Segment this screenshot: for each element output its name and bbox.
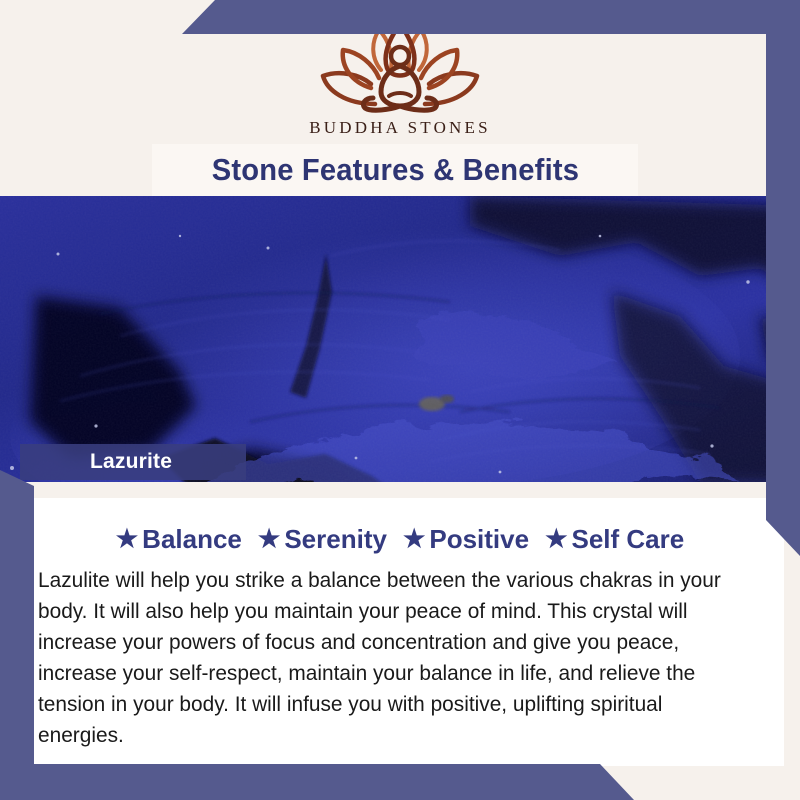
star-icon-1: ★ bbox=[116, 527, 138, 552]
star-icon-3: ★ bbox=[403, 527, 425, 552]
stone-description: Lazulite will help you strike a balance … bbox=[38, 565, 740, 751]
brand-logo: BUDDHA STONES bbox=[0, 18, 800, 138]
frame-accent-left bbox=[0, 470, 34, 800]
keyword-positive: Positive bbox=[429, 524, 529, 555]
stone-photo-render bbox=[0, 196, 800, 482]
stone-info-poster: BUDDHA STONES bbox=[0, 0, 800, 800]
section-title-plate: Stone Features & Benefits bbox=[152, 144, 638, 196]
stone-name-badge: Lazurite bbox=[20, 444, 246, 480]
keyword-balance: Balance bbox=[142, 524, 242, 555]
brand-name: BUDDHA STONES bbox=[309, 118, 491, 138]
content-panel: ★ Balance ★ Serenity ★ Positive ★ Self C… bbox=[16, 498, 784, 766]
stone-name-label: Lazurite bbox=[90, 450, 172, 474]
star-icon-2: ★ bbox=[258, 527, 280, 552]
frame-accent-right bbox=[766, 0, 800, 556]
keyword-row: ★ Balance ★ Serenity ★ Positive ★ Self C… bbox=[16, 498, 784, 555]
star-icon-4: ★ bbox=[545, 527, 567, 552]
keyword-self-care: Self Care bbox=[572, 524, 685, 555]
panel-top-strip bbox=[16, 482, 784, 498]
frame-accent-bottom bbox=[0, 764, 800, 800]
page-title: Stone Features & Benefits bbox=[211, 152, 578, 188]
stone-photo: Lazurite bbox=[0, 196, 800, 482]
keyword-serenity: Serenity bbox=[284, 524, 387, 555]
